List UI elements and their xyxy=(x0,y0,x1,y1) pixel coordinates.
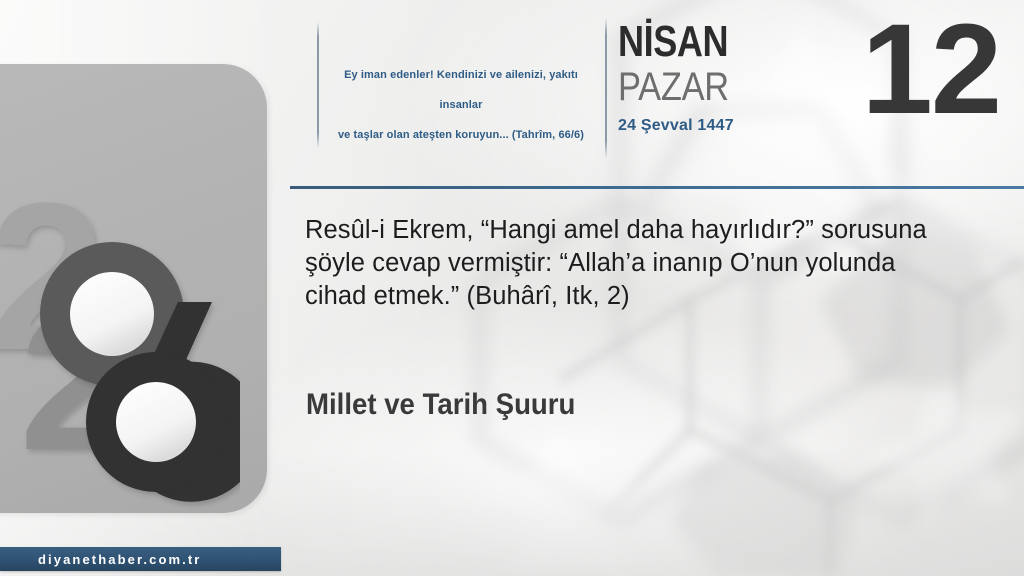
verse-line-2: ve taşlar olan ateşten koruyun... (Tahrî… xyxy=(322,120,600,150)
theme-title: Millet ve Tarih Şuuru xyxy=(306,388,575,422)
logo-panel: 2 2 xyxy=(0,64,267,513)
site-url-bar[interactable]: diyanethaber.com.tr xyxy=(0,547,281,571)
month-name: NİSAN xyxy=(618,20,823,64)
date-block: NİSAN PAZAR 24 Şevval 1447 xyxy=(618,20,868,135)
calendar-page: 2 2 Ey iman edenler! Kendinizi ve aileni… xyxy=(0,0,1024,576)
weekday-name: PAZAR xyxy=(618,65,833,109)
day-number: 12 xyxy=(862,6,1000,134)
header-divider-right xyxy=(605,18,607,158)
hijri-date: 24 Şevval 1447 xyxy=(618,117,868,135)
quran-verse: Ey iman edenler! Kendinizi ve ailenizi, … xyxy=(322,60,600,150)
verse-line-1: Ey iman edenler! Kendinizi ve ailenizi, … xyxy=(322,60,600,120)
hadith-quote: Resûl-i Ekrem, “Hangi amel daha hayırlıd… xyxy=(305,214,930,313)
header-divider-left xyxy=(317,22,319,148)
site-url-text: diyanethaber.com.tr xyxy=(0,552,201,567)
header-rule xyxy=(290,186,1024,189)
year-2026-logo-icon: 2 2 xyxy=(0,174,240,514)
